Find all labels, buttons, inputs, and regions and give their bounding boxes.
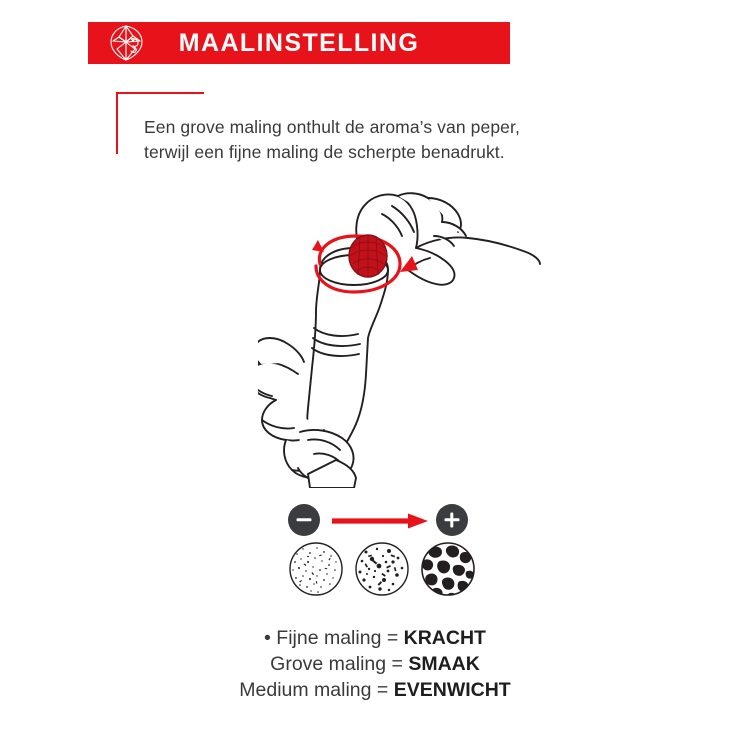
header-bar: MAALINSTELLING [88, 22, 510, 64]
legend-text-medium: Medium maling = [239, 679, 393, 701]
pepper-mill-illustration [258, 178, 548, 488]
legend-line-coarse: Grove maling = SMAAK [0, 651, 750, 677]
legend-block: • Fijne maling = KRACHT Grove maling = S… [0, 625, 750, 703]
plus-circle-icon[interactable] [436, 504, 468, 536]
fine-grind-sample [287, 540, 345, 598]
legend-value-fine: KRACHT [404, 627, 486, 649]
intro-line-2: terwijl een fijne maling de scherpte ben… [144, 142, 505, 162]
legend-text-fine: Fijne maling = [276, 627, 403, 649]
legend-text-coarse: Grove maling = [270, 653, 408, 675]
legend-line-fine: • Fijne maling = KRACHT [0, 625, 750, 651]
grind-sample-row [285, 540, 481, 602]
minus-circle-icon[interactable] [288, 504, 320, 536]
legend-value-coarse: SMAAK [408, 653, 480, 675]
legend-bullet-fine: • [264, 627, 276, 649]
coarse-grind-sample [419, 540, 477, 598]
legend-value-medium: EVENWICHT [394, 679, 511, 701]
medium-grind-sample [353, 540, 411, 598]
right-arrow-icon [332, 513, 428, 529]
plus-bar-vertical [450, 513, 453, 528]
intro-text: Een grove maling onthult de aroma’s van … [144, 115, 614, 165]
grind-scale-row [288, 504, 468, 542]
legend-line-medium: Medium maling = EVENWICHT [0, 677, 750, 703]
minus-bar [297, 518, 312, 521]
intro-line-1: Een grove maling onthult de aroma’s van … [144, 117, 520, 137]
page-title: MAALINSTELLING [88, 22, 510, 64]
